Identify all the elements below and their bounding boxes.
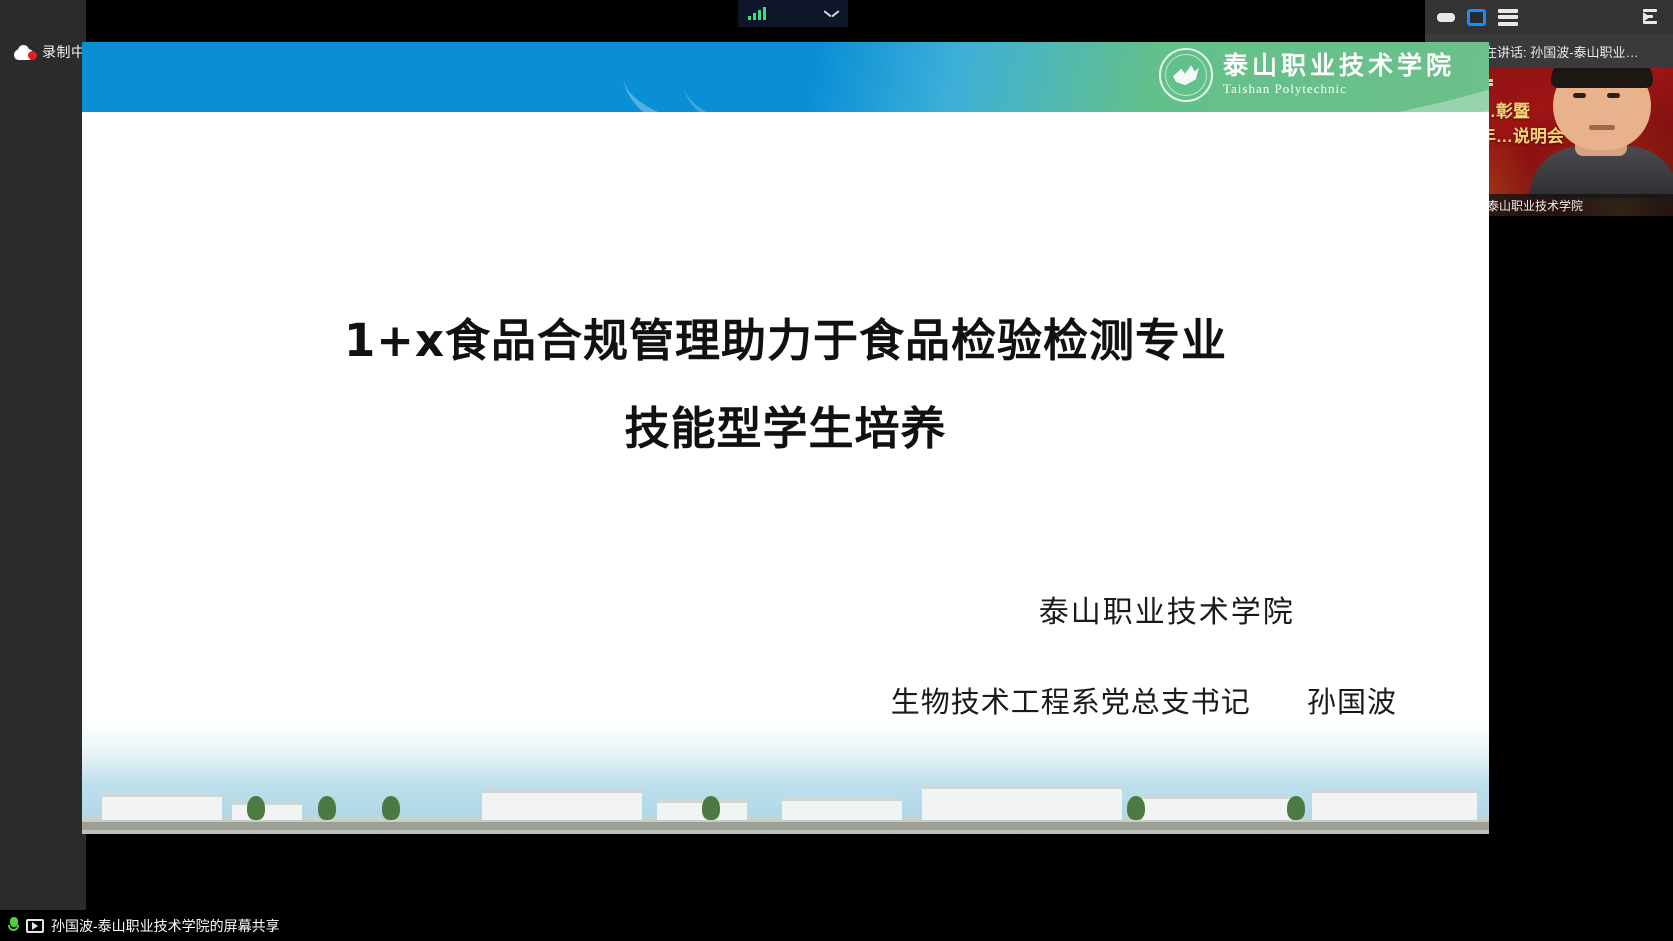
recording-cloud-icon	[14, 45, 36, 60]
connection-status-pill[interactable]	[738, 0, 848, 27]
recording-label: 录制中	[42, 42, 86, 62]
recording-indicator[interactable]: 录制中	[14, 42, 86, 62]
screen-share-label: 孙国波-泰山职业技术学院的屏幕共享	[51, 916, 280, 936]
left-rail: 录制中	[0, 0, 86, 926]
presenter-block: 泰山职业技术学院 生物技术工程系党总支书记 孙国波	[891, 587, 1397, 721]
list-view-icon[interactable]	[1498, 9, 1518, 26]
school-name-cn: 泰山职业技术学院	[1223, 53, 1455, 79]
mic-on-icon[interactable]	[8, 917, 19, 934]
campus-photo	[82, 772, 1489, 834]
shared-screen-slide[interactable]: 泰山职业技术学院 Taishan Polytechnic 1+x食品合规管理助力…	[82, 42, 1489, 834]
school-branding: 泰山职业技术学院 Taishan Polytechnic	[1159, 48, 1455, 102]
presenter-name: 孙国波	[1307, 687, 1397, 719]
meeting-window: 录制中 正在讲	[0, 0, 1673, 941]
chevron-down-icon[interactable]	[825, 10, 838, 18]
bottom-status-bar: 孙国波-泰山职业技术学院的屏幕共享	[0, 910, 1673, 941]
signal-bars-icon	[748, 8, 766, 20]
speaking-label: 正在讲话: 孙国波-泰山职业技...	[1471, 42, 1649, 61]
participant-avatar	[1529, 68, 1673, 198]
screen-share-icon[interactable]	[26, 919, 44, 933]
window-view-icon[interactable]	[1467, 9, 1486, 26]
presenter-role: 生物技术工程系党总支书记	[891, 687, 1251, 719]
slide-title-line2: 技能型学生培养	[82, 385, 1489, 473]
school-emblem-icon	[1159, 48, 1213, 102]
slide-title-line1: 1+x食品合规管理助力于食品检验检测专业	[344, 314, 1227, 367]
school-name-en: Taishan Polytechnic	[1223, 81, 1455, 97]
slide-footer-image	[82, 722, 1489, 834]
slide-banner: 泰山职业技术学院 Taishan Polytechnic	[82, 42, 1489, 112]
presenter-role-line: 生物技术工程系党总支书记 孙国波	[891, 679, 1397, 721]
view-mode-group	[1437, 9, 1518, 26]
collapse-panel-icon[interactable]	[1643, 9, 1663, 25]
slide-title: 1+x食品合规管理助力于食品检验检测专业 技能型学生培养	[82, 297, 1489, 473]
panel-toolbar	[1425, 0, 1673, 34]
presenter-organization: 泰山职业技术学院	[891, 587, 1397, 631]
minimize-icon[interactable]	[1437, 13, 1455, 22]
